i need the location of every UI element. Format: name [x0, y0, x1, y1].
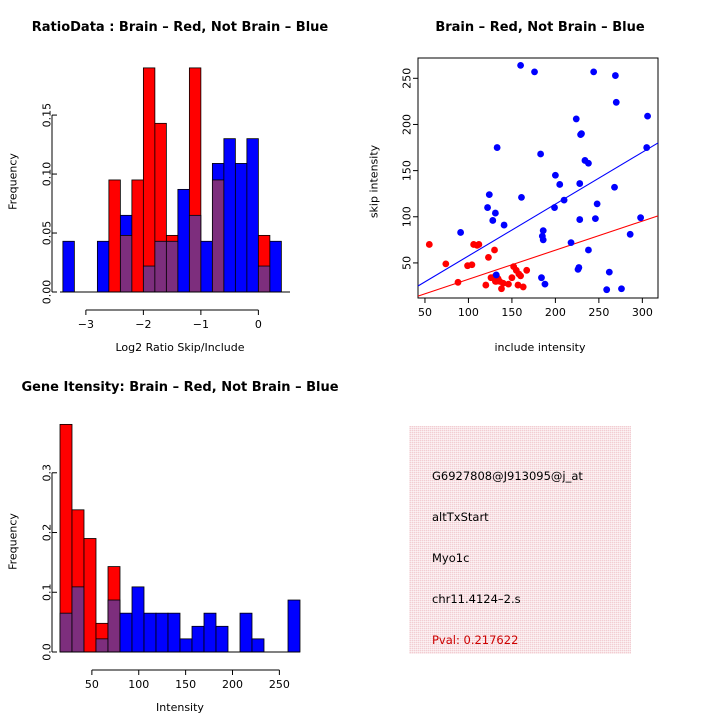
scatter-point	[556, 181, 563, 188]
scatter-point	[592, 215, 599, 222]
x-axis-tick-label: 150	[175, 678, 196, 691]
x-axis-tick-label: 250	[588, 306, 609, 319]
histogram-bar-overlap	[189, 215, 201, 292]
x-axis-tick-label: 50	[85, 678, 99, 691]
histogram-bar	[120, 613, 132, 652]
scatter-point	[509, 274, 516, 281]
histogram-bar	[252, 639, 264, 652]
histogram-bar	[224, 139, 236, 292]
scatter-point	[578, 130, 585, 137]
scatter-point	[426, 241, 433, 248]
histogram-bar	[178, 189, 190, 292]
x-axis-tick-label: 50	[418, 306, 432, 319]
x-axis-tick-label: −2	[135, 318, 151, 331]
ratio-hist-xlabel: Log2 Ratio Skip/Include	[0, 341, 360, 354]
gene-hist-plot-area: 0.00.10.20.350100150200250	[0, 360, 360, 720]
y-axis-tick-label: 0.1	[41, 584, 54, 602]
histogram-bar-overlap	[60, 613, 72, 652]
scatter-point	[594, 200, 601, 207]
histogram-bar-overlap	[212, 180, 224, 292]
histogram-bar	[192, 626, 204, 652]
histogram-bar-overlap	[72, 587, 84, 652]
histogram-bar	[156, 613, 168, 652]
scatter-point	[457, 229, 464, 236]
ratio-hist-plot-area: 0.000.050.100.15−3−2−10	[0, 0, 360, 360]
scatter-point	[568, 239, 575, 246]
scatter-point	[501, 222, 508, 229]
histogram-bar	[240, 613, 252, 652]
scatter-point	[538, 274, 545, 281]
regression-line	[418, 216, 658, 296]
scatter-point	[551, 204, 558, 211]
info-coordinate: chr11.4124–2.s	[432, 592, 521, 606]
histogram-bar	[63, 241, 75, 292]
histogram-bar	[288, 600, 300, 652]
histogram-bar	[97, 241, 109, 292]
scatter-point	[484, 204, 491, 211]
ratio-hist-ylabel: Frequency	[7, 142, 20, 222]
histogram-bar	[235, 163, 247, 292]
histogram-bar	[144, 613, 156, 652]
panel-scatter: Brain – Red, Not Brain – Blue include in…	[360, 0, 720, 360]
y-axis-tick-label: 100	[401, 206, 414, 227]
scatter-point	[531, 68, 538, 75]
scatter-point	[469, 261, 476, 268]
scatter-point	[489, 217, 496, 224]
scatter-point	[442, 260, 449, 267]
histogram-bar	[168, 613, 180, 652]
scatter-point	[540, 236, 547, 243]
scatter-point	[517, 272, 524, 279]
scatter-point	[637, 214, 644, 221]
scatter-ylabel: skip intensity	[368, 142, 381, 222]
scatter-point	[486, 191, 493, 198]
x-axis-tick-label: 150	[501, 306, 522, 319]
x-axis-tick-label: −3	[78, 318, 94, 331]
regression-line	[418, 143, 658, 286]
histogram-bar	[270, 241, 282, 292]
x-axis-tick-label: 0	[255, 318, 262, 331]
scatter-point	[492, 210, 499, 217]
x-axis-tick-label: 200	[222, 678, 243, 691]
scatter-point	[482, 282, 489, 289]
scatter-point	[576, 216, 583, 223]
scatter-point	[643, 144, 650, 151]
histogram-bar-overlap	[166, 241, 178, 292]
scatter-point	[603, 286, 610, 293]
scatter-point	[520, 284, 527, 291]
histogram-bar-overlap	[120, 235, 132, 292]
x-axis-tick-label: 250	[269, 678, 290, 691]
scatter-point	[485, 254, 492, 261]
histogram-bar	[132, 180, 144, 292]
y-axis-tick-label: 200	[401, 114, 414, 135]
scatter-point	[494, 144, 501, 151]
info-box: G6927808@J913095@j_at altTxStart Myo1c c…	[409, 426, 631, 654]
scatter-plot-area: 5010015020025050100150200250300	[360, 0, 720, 360]
histogram-bar	[204, 613, 216, 652]
scatter-title: Brain – Red, Not Brain – Blue	[360, 20, 720, 35]
scatter-point	[606, 269, 613, 276]
gene-hist-xlabel: Intensity	[0, 701, 360, 714]
panel-gene-histogram: Gene Itensity: Brain – Red, Not Brain – …	[0, 360, 360, 720]
y-axis-tick-label: 0.00	[41, 280, 54, 305]
info-probe-id: G6927808@J913095@j_at	[432, 469, 583, 483]
scatter-point	[573, 116, 580, 123]
scatter-point	[576, 180, 583, 187]
scatter-point	[523, 267, 530, 274]
x-axis-tick-label: −1	[193, 318, 209, 331]
histogram-bar	[247, 139, 259, 292]
ratio-hist-title: RatioData : Brain – Red, Not Brain – Blu…	[0, 20, 360, 35]
scatter-point	[505, 281, 512, 288]
scatter-point	[455, 279, 462, 286]
histogram-bar-overlap	[258, 266, 270, 292]
histogram-bar	[143, 68, 155, 292]
scatter-point	[618, 285, 625, 292]
y-axis-tick-label: 0.2	[41, 524, 54, 542]
scatter-point	[537, 151, 544, 158]
x-axis-tick-label: 100	[128, 678, 149, 691]
scatter-point	[590, 68, 597, 75]
scatter-point	[561, 197, 568, 204]
scatter-xlabel: include intensity	[360, 341, 720, 354]
scatter-point	[612, 72, 619, 79]
histogram-bar	[84, 538, 96, 652]
scatter-point	[493, 272, 500, 279]
y-axis-tick-label: 50	[401, 256, 414, 270]
gene-hist-ylabel: Frequency	[7, 502, 20, 582]
histogram-bar-overlap	[155, 241, 167, 292]
histogram-bar-overlap	[108, 600, 120, 652]
histogram-bar-overlap	[96, 639, 108, 652]
scatter-point	[627, 231, 634, 238]
histogram-bar	[201, 241, 213, 292]
scatter-point	[491, 247, 498, 254]
histogram-bar	[132, 587, 144, 652]
x-axis-tick-label: 100	[458, 306, 479, 319]
info-event-type: altTxStart	[432, 510, 489, 524]
y-axis-tick-label: 0.10	[41, 162, 54, 187]
x-axis-tick-label: 300	[632, 306, 653, 319]
scatter-point	[552, 172, 559, 179]
y-axis-tick-label: 0.0	[41, 643, 54, 661]
scatter-point	[585, 247, 592, 254]
x-axis-tick-label: 200	[545, 306, 566, 319]
scatter-point	[518, 194, 525, 201]
scatter-point	[585, 160, 592, 167]
scatter-point	[540, 227, 547, 234]
histogram-bar-overlap	[143, 266, 155, 292]
scatter-point	[475, 241, 482, 248]
y-axis-tick-label: 0.3	[41, 464, 54, 482]
y-axis-tick-label: 150	[401, 160, 414, 181]
info-pval: Pval: 0.217622	[432, 633, 518, 647]
plot-box	[418, 58, 658, 298]
info-gene-symbol: Myo1c	[432, 551, 469, 565]
panel-info: G6927808@J913095@j_at altTxStart Myo1c c…	[360, 360, 720, 720]
scatter-point	[575, 264, 582, 271]
histogram-bar	[216, 626, 228, 652]
scatter-point	[644, 113, 651, 120]
y-axis-tick-label: 0.15	[41, 103, 54, 128]
gene-hist-title: Gene Itensity: Brain – Red, Not Brain – …	[0, 380, 360, 395]
scatter-point	[611, 184, 618, 191]
figure-canvas: RatioData : Brain – Red, Not Brain – Blu…	[0, 0, 720, 720]
histogram-bar	[109, 180, 121, 292]
scatter-point	[542, 281, 549, 288]
scatter-point	[517, 62, 524, 69]
panel-ratio-histogram: RatioData : Brain – Red, Not Brain – Blu…	[0, 0, 360, 360]
y-axis-tick-label: 250	[401, 68, 414, 89]
scatter-point	[613, 99, 620, 106]
y-axis-tick-label: 0.05	[41, 221, 54, 246]
histogram-bar	[180, 639, 192, 652]
